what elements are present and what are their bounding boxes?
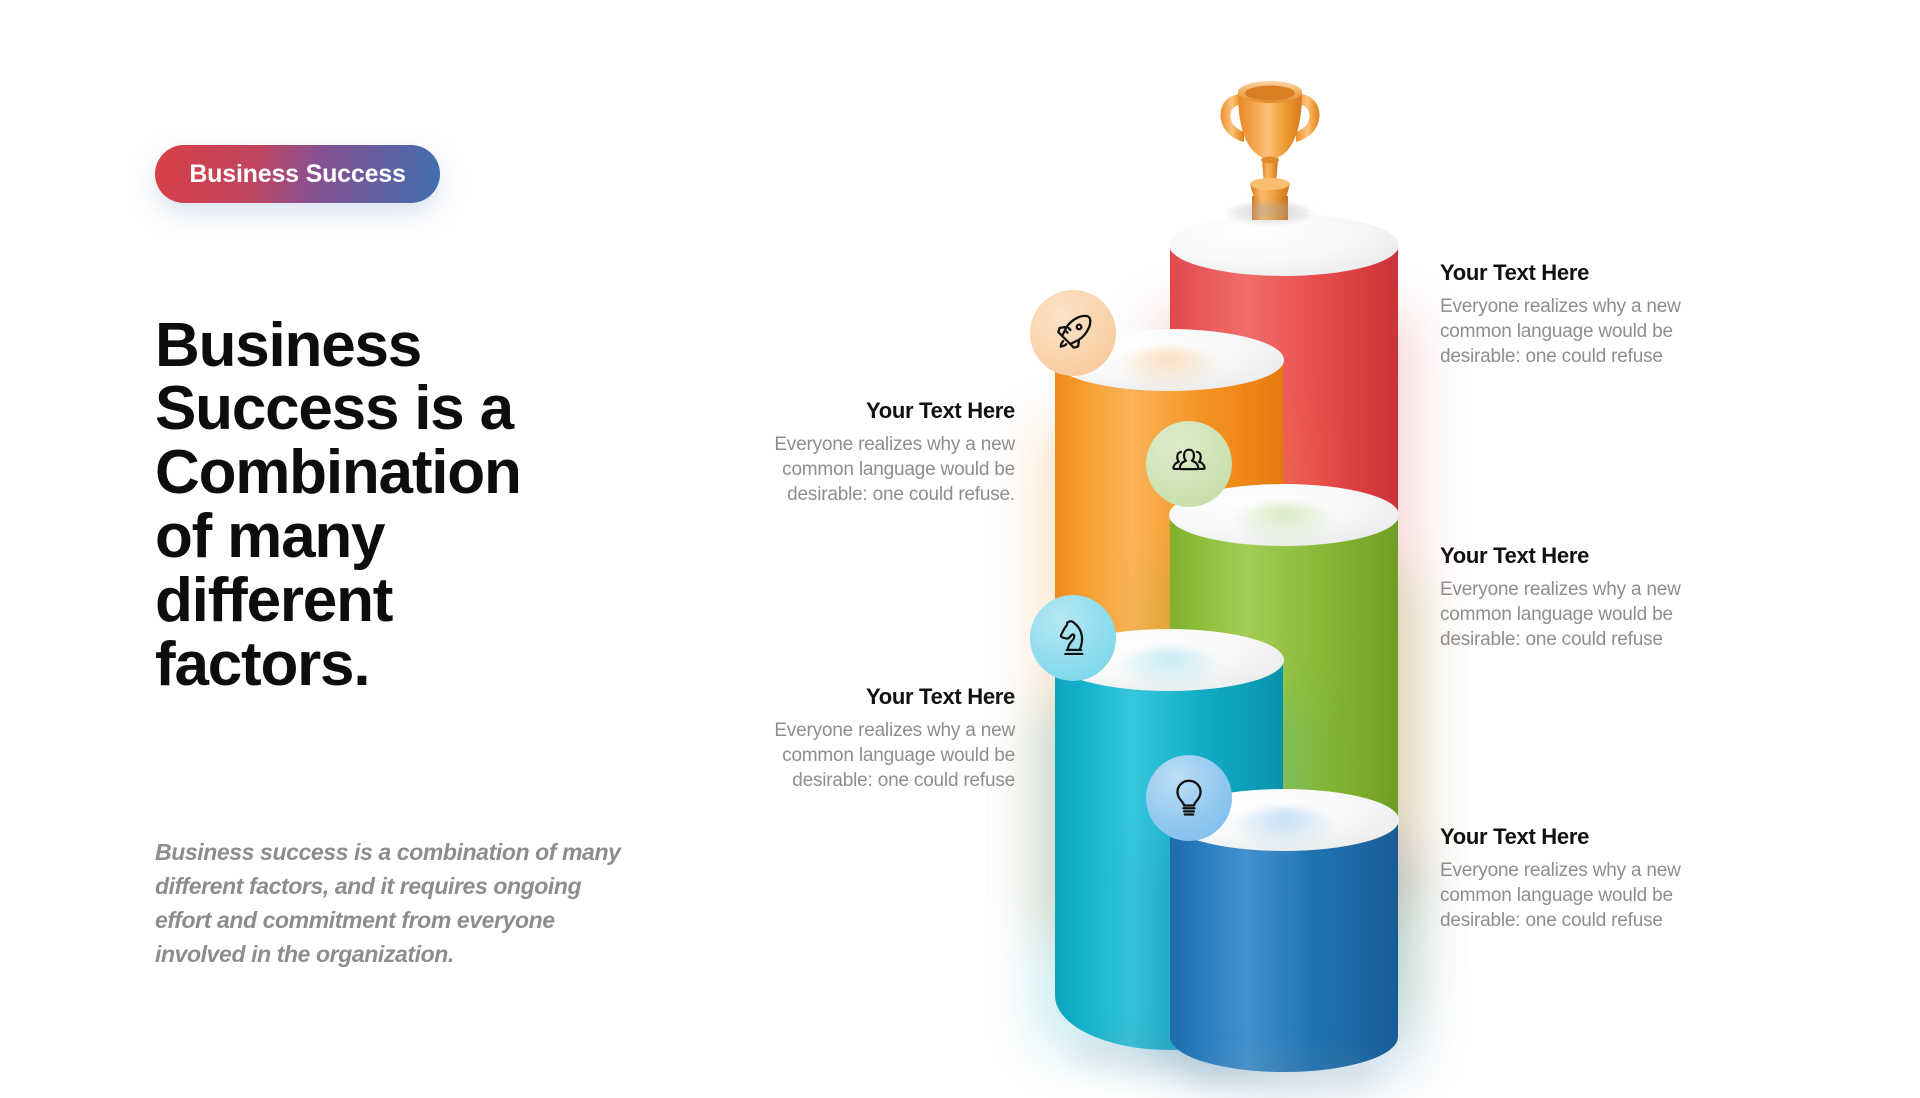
people-group-icon-bubble[interactable] — [1146, 421, 1232, 507]
callout-title: Your Text Here — [1440, 260, 1720, 286]
cylinder-shadow — [1184, 1054, 1385, 1098]
lightbulb-icon — [1167, 776, 1211, 820]
people-group-icon — [1167, 442, 1211, 486]
callout-title: Your Text Here — [735, 398, 1015, 424]
slide-canvas: Business Success Business Success is a C… — [0, 0, 1920, 1080]
callout-body: Everyone realizes why a new common langu… — [1440, 858, 1720, 933]
cylinder-gloss-reflection — [1230, 808, 1338, 854]
business-success-badge[interactable]: Business Success — [155, 145, 440, 203]
callout-right-2: Your Text Here Everyone realizes why a n… — [1440, 543, 1720, 652]
cylinder-gloss-reflection — [1115, 648, 1223, 694]
rocket-icon — [1051, 311, 1095, 355]
chess-knight-icon — [1051, 616, 1095, 660]
callout-title: Your Text Here — [735, 684, 1015, 710]
subtitle-paragraph: Business success is a combination of man… — [155, 835, 625, 971]
callout-title: Your Text Here — [1440, 543, 1720, 569]
trophy-icon — [1200, 60, 1340, 220]
callout-body: Everyone realizes why a new common langu… — [1440, 577, 1720, 652]
callout-body: Everyone realizes why a new common langu… — [735, 432, 1015, 507]
callout-title: Your Text Here — [1440, 824, 1720, 850]
callout-right-3: Your Text Here Everyone realizes why a n… — [1440, 824, 1720, 933]
blue-cylinder[interactable] — [1170, 820, 1398, 1072]
cylinder-gloss-reflection — [1115, 348, 1223, 394]
page-title: Business Success is a Combination of man… — [155, 314, 575, 697]
callout-left-2: Your Text Here Everyone realizes why a n… — [735, 684, 1015, 793]
callout-left-1: Your Text Here Everyone realizes why a n… — [735, 398, 1015, 507]
trophy-base-ring — [1228, 202, 1312, 224]
rocket-icon-bubble[interactable] — [1030, 290, 1116, 376]
lightbulb-icon-bubble[interactable] — [1146, 755, 1232, 841]
badge-label: Business Success — [189, 160, 405, 189]
callout-body: Everyone realizes why a new common langu… — [1440, 294, 1720, 369]
callout-right-1: Your Text Here Everyone realizes why a n… — [1440, 260, 1720, 369]
chess-knight-icon-bubble[interactable] — [1030, 595, 1116, 681]
callout-body: Everyone realizes why a new common langu… — [735, 718, 1015, 793]
cylinder-gloss-reflection — [1230, 503, 1338, 549]
cylinder-stairs-graphic — [1020, 60, 1440, 1020]
cylinder-body — [1170, 820, 1398, 1072]
